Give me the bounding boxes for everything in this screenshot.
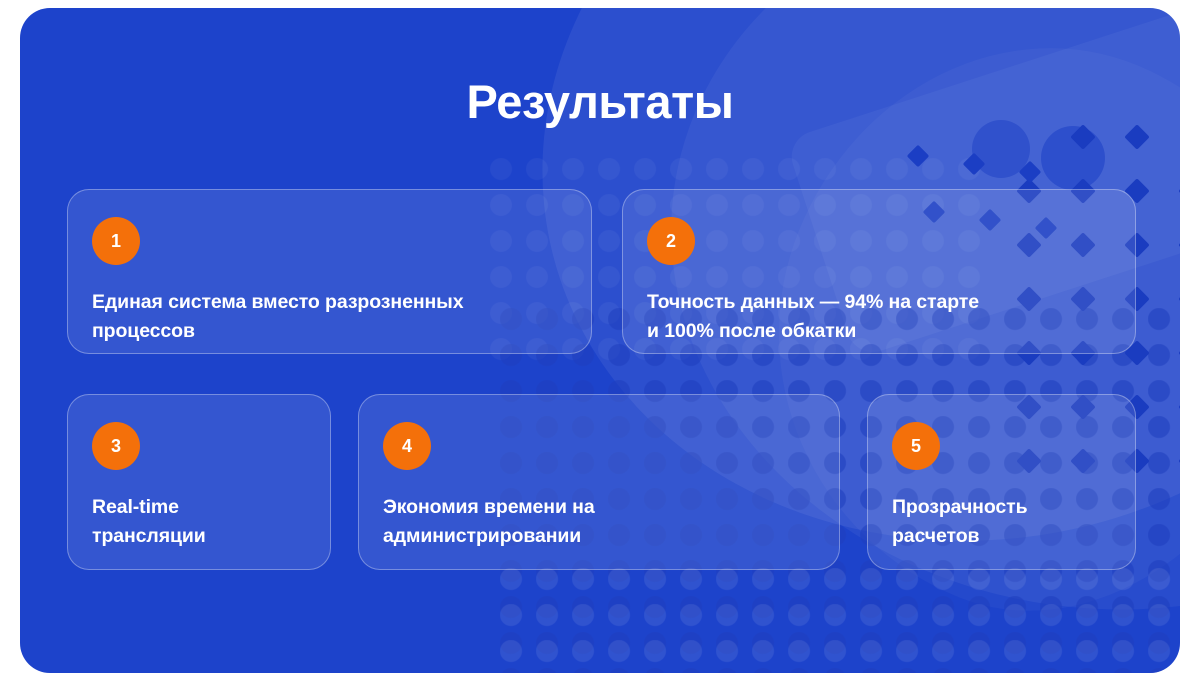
card-number-badge: 5: [892, 422, 940, 470]
result-card-2[interactable]: 2 Точность данных — 94% на старте и 100%…: [622, 189, 1136, 354]
card-text: Экономия времени на администрировании: [383, 493, 839, 551]
card-number-badge: 3: [92, 422, 140, 470]
circle-blob-1: [1041, 126, 1105, 190]
result-card-4[interactable]: 4 Экономия времени на администрировании: [358, 394, 840, 570]
card-number-badge: 4: [383, 422, 431, 470]
card-text: Единая система вместо разрозненных проце…: [92, 288, 591, 346]
card-number-badge: 1: [92, 217, 140, 265]
card-text: Точность данных — 94% на старте и 100% п…: [647, 288, 1135, 346]
result-card-1[interactable]: 1 Единая система вместо разрозненных про…: [67, 189, 592, 354]
result-card-3[interactable]: 3 Real-time трансляции: [67, 394, 331, 570]
circle-blob-2: [972, 120, 1030, 178]
card-number-badge: 2: [647, 217, 695, 265]
card-text: Прозрачность расчетов: [892, 493, 1135, 551]
card-text: Real-time трансляции: [92, 493, 330, 551]
dot-grid-light: [500, 568, 1180, 673]
page-title: Результаты: [20, 76, 1180, 128]
result-card-5[interactable]: 5 Прозрачность расчетов: [867, 394, 1136, 570]
results-slide: Результаты 1 Единая система вместо разро…: [20, 8, 1180, 673]
